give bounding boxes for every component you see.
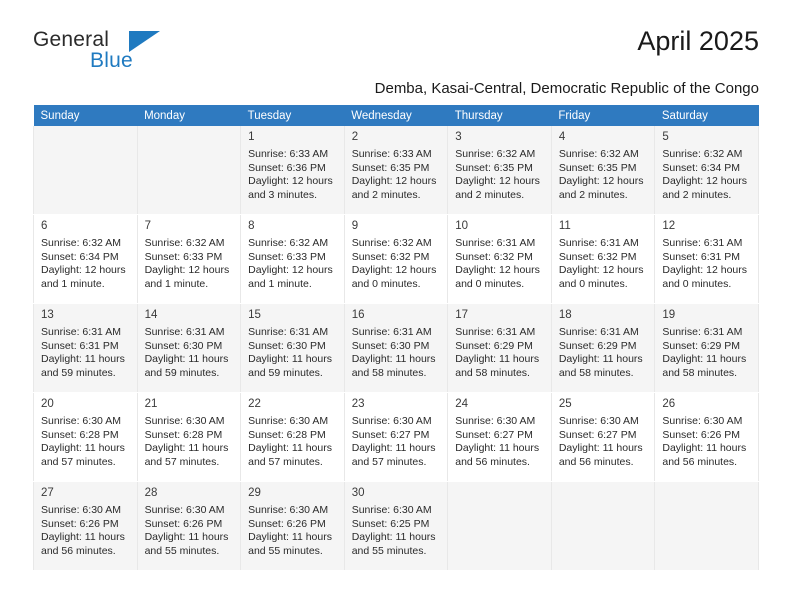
day-cell-content: 25Sunrise: 6:30 AMSunset: 6:27 PMDayligh… (552, 393, 655, 481)
daylight-text: and 2 minutes. (559, 189, 648, 203)
daylight-text: Daylight: 11 hours (662, 353, 751, 367)
sunset-text: Sunset: 6:32 PM (559, 251, 648, 265)
sunrise-text: Sunrise: 6:30 AM (248, 504, 337, 518)
calendar-week-row: 13Sunrise: 6:31 AMSunset: 6:31 PMDayligh… (34, 304, 759, 393)
daylight-text: and 59 minutes. (145, 367, 234, 381)
weekday-header-sunday: Sunday (34, 105, 138, 126)
sunrise-text: Sunrise: 6:31 AM (352, 326, 441, 340)
calendar-day-cell[interactable]: 21Sunrise: 6:30 AMSunset: 6:28 PMDayligh… (137, 393, 241, 482)
calendar-day-cell[interactable]: 19Sunrise: 6:31 AMSunset: 6:29 PMDayligh… (655, 304, 759, 393)
day-cell-content (448, 482, 551, 570)
day-cell-content: 6Sunrise: 6:32 AMSunset: 6:34 PMDaylight… (34, 215, 137, 303)
general-blue-logo[interactable]: General Blue (33, 28, 233, 76)
day-cell-content (655, 482, 758, 570)
calendar-day-cell[interactable]: 13Sunrise: 6:31 AMSunset: 6:31 PMDayligh… (34, 304, 138, 393)
day-cell-content: 23Sunrise: 6:30 AMSunset: 6:27 PMDayligh… (345, 393, 448, 481)
sunrise-text: Sunrise: 6:30 AM (352, 504, 441, 518)
day-number: 15 (248, 308, 337, 323)
day-number: 2 (352, 130, 441, 145)
daylight-text: Daylight: 12 hours (559, 264, 648, 278)
daylight-text: and 56 minutes. (662, 456, 751, 470)
sunrise-text: Sunrise: 6:30 AM (41, 504, 130, 518)
calendar-week-row: 1Sunrise: 6:33 AMSunset: 6:36 PMDaylight… (34, 126, 759, 215)
calendar-day-cell[interactable]: 26Sunrise: 6:30 AMSunset: 6:26 PMDayligh… (655, 393, 759, 482)
day-cell-content (34, 126, 137, 214)
day-cell-content: 9Sunrise: 6:32 AMSunset: 6:32 PMDaylight… (345, 215, 448, 303)
calendar-day-cell[interactable]: 29Sunrise: 6:30 AMSunset: 6:26 PMDayligh… (241, 482, 345, 571)
calendar-day-cell[interactable]: 1Sunrise: 6:33 AMSunset: 6:36 PMDaylight… (241, 126, 345, 215)
calendar-day-cell[interactable]: 16Sunrise: 6:31 AMSunset: 6:30 PMDayligh… (344, 304, 448, 393)
day-number: 20 (41, 397, 130, 412)
sunrise-text: Sunrise: 6:32 AM (248, 237, 337, 251)
sunrise-text: Sunrise: 6:32 AM (352, 237, 441, 251)
calendar-day-cell[interactable]: 10Sunrise: 6:31 AMSunset: 6:32 PMDayligh… (448, 215, 552, 304)
sunrise-text: Sunrise: 6:30 AM (145, 504, 234, 518)
daylight-text: and 55 minutes. (352, 545, 441, 559)
day-cell-content: 29Sunrise: 6:30 AMSunset: 6:26 PMDayligh… (241, 482, 344, 570)
calendar-empty-cell (655, 482, 759, 571)
day-number: 18 (559, 308, 648, 323)
day-number: 27 (41, 486, 130, 501)
day-number: 13 (41, 308, 130, 323)
sunrise-text: Sunrise: 6:31 AM (662, 326, 751, 340)
daylight-text: Daylight: 11 hours (145, 353, 234, 367)
calendar-week-row: 27Sunrise: 6:30 AMSunset: 6:26 PMDayligh… (34, 482, 759, 571)
logo-text-blue: Blue (90, 49, 133, 73)
sunset-text: Sunset: 6:29 PM (559, 340, 648, 354)
day-number: 5 (662, 130, 751, 145)
sunset-text: Sunset: 6:27 PM (352, 429, 441, 443)
day-number: 10 (455, 219, 544, 234)
location-subtitle: Demba, Kasai-Central, Democratic Republi… (33, 80, 759, 97)
sunrise-text: Sunrise: 6:32 AM (41, 237, 130, 251)
day-cell-content: 15Sunrise: 6:31 AMSunset: 6:30 PMDayligh… (241, 304, 344, 392)
day-number: 3 (455, 130, 544, 145)
sunrise-text: Sunrise: 6:32 AM (662, 148, 751, 162)
daylight-text: Daylight: 11 hours (41, 442, 130, 456)
day-cell-content: 8Sunrise: 6:32 AMSunset: 6:33 PMDaylight… (241, 215, 344, 303)
calendar-day-cell[interactable]: 6Sunrise: 6:32 AMSunset: 6:34 PMDaylight… (34, 215, 138, 304)
daylight-text: Daylight: 11 hours (248, 531, 337, 545)
daylight-text: Daylight: 11 hours (41, 353, 130, 367)
calendar-day-cell[interactable]: 28Sunrise: 6:30 AMSunset: 6:26 PMDayligh… (137, 482, 241, 571)
day-number: 28 (145, 486, 234, 501)
day-number: 26 (662, 397, 751, 412)
calendar-day-cell[interactable]: 27Sunrise: 6:30 AMSunset: 6:26 PMDayligh… (34, 482, 138, 571)
daylight-text: and 1 minute. (248, 278, 337, 292)
daylight-text: Daylight: 12 hours (145, 264, 234, 278)
day-cell-content: 19Sunrise: 6:31 AMSunset: 6:29 PMDayligh… (655, 304, 758, 392)
sunrise-text: Sunrise: 6:30 AM (145, 415, 234, 429)
sunset-text: Sunset: 6:28 PM (41, 429, 130, 443)
daylight-text: Daylight: 12 hours (41, 264, 130, 278)
day-cell-content: 28Sunrise: 6:30 AMSunset: 6:26 PMDayligh… (138, 482, 241, 570)
sunset-text: Sunset: 6:32 PM (455, 251, 544, 265)
day-cell-content: 16Sunrise: 6:31 AMSunset: 6:30 PMDayligh… (345, 304, 448, 392)
calendar-day-cell[interactable]: 5Sunrise: 6:32 AMSunset: 6:34 PMDaylight… (655, 126, 759, 215)
daylight-text: Daylight: 12 hours (455, 175, 544, 189)
daylight-text: Daylight: 12 hours (455, 264, 544, 278)
daylight-text: Daylight: 11 hours (352, 531, 441, 545)
sunrise-text: Sunrise: 6:33 AM (248, 148, 337, 162)
daylight-text: Daylight: 11 hours (455, 442, 544, 456)
sunset-text: Sunset: 6:33 PM (145, 251, 234, 265)
sunset-text: Sunset: 6:30 PM (352, 340, 441, 354)
daylight-text: and 59 minutes. (41, 367, 130, 381)
daylight-text: Daylight: 11 hours (352, 442, 441, 456)
sunrise-text: Sunrise: 6:31 AM (559, 326, 648, 340)
calendar-table: Sunday Monday Tuesday Wednesday Thursday… (33, 105, 759, 571)
sunrise-text: Sunrise: 6:31 AM (662, 237, 751, 251)
day-cell-content: 14Sunrise: 6:31 AMSunset: 6:30 PMDayligh… (138, 304, 241, 392)
daylight-text: and 1 minute. (41, 278, 130, 292)
daylight-text: Daylight: 11 hours (145, 531, 234, 545)
daylight-text: Daylight: 11 hours (662, 442, 751, 456)
sunrise-text: Sunrise: 6:30 AM (352, 415, 441, 429)
weekday-header-tuesday: Tuesday (241, 105, 345, 126)
calendar-day-cell[interactable]: 11Sunrise: 6:31 AMSunset: 6:32 PMDayligh… (551, 215, 655, 304)
calendar-empty-cell (551, 482, 655, 571)
day-cell-content: 24Sunrise: 6:30 AMSunset: 6:27 PMDayligh… (448, 393, 551, 481)
triangle-icon (129, 31, 160, 52)
day-number: 9 (352, 219, 441, 234)
daylight-text: and 58 minutes. (559, 367, 648, 381)
daylight-text: and 0 minutes. (455, 278, 544, 292)
day-number: 6 (41, 219, 130, 234)
daylight-text: Daylight: 11 hours (145, 442, 234, 456)
day-cell-content: 10Sunrise: 6:31 AMSunset: 6:32 PMDayligh… (448, 215, 551, 303)
day-number: 21 (145, 397, 234, 412)
sunset-text: Sunset: 6:35 PM (352, 162, 441, 176)
sunset-text: Sunset: 6:27 PM (455, 429, 544, 443)
day-number: 4 (559, 130, 648, 145)
day-cell-content: 1Sunrise: 6:33 AMSunset: 6:36 PMDaylight… (241, 126, 344, 214)
sunset-text: Sunset: 6:26 PM (145, 518, 234, 532)
sunrise-text: Sunrise: 6:32 AM (145, 237, 234, 251)
daylight-text: Daylight: 12 hours (662, 264, 751, 278)
page-title: April 2025 (637, 26, 759, 57)
day-number: 23 (352, 397, 441, 412)
sunrise-text: Sunrise: 6:31 AM (41, 326, 130, 340)
sunset-text: Sunset: 6:28 PM (145, 429, 234, 443)
daylight-text: and 3 minutes. (248, 189, 337, 203)
day-cell-content: 4Sunrise: 6:32 AMSunset: 6:35 PMDaylight… (552, 126, 655, 214)
sunset-text: Sunset: 6:26 PM (41, 518, 130, 532)
daylight-text: and 57 minutes. (145, 456, 234, 470)
sunset-text: Sunset: 6:33 PM (248, 251, 337, 265)
calendar-week-row: 6Sunrise: 6:32 AMSunset: 6:34 PMDaylight… (34, 215, 759, 304)
sunset-text: Sunset: 6:34 PM (662, 162, 751, 176)
sunrise-text: Sunrise: 6:33 AM (352, 148, 441, 162)
daylight-text: and 0 minutes. (559, 278, 648, 292)
calendar-day-cell[interactable]: 15Sunrise: 6:31 AMSunset: 6:30 PMDayligh… (241, 304, 345, 393)
day-number: 24 (455, 397, 544, 412)
sunrise-text: Sunrise: 6:31 AM (248, 326, 337, 340)
calendar-empty-cell (448, 482, 552, 571)
daylight-text: Daylight: 11 hours (559, 442, 648, 456)
daylight-text: and 2 minutes. (455, 189, 544, 203)
calendar-page: General Blue April 2025 Demba, Kasai-Cen… (0, 0, 792, 612)
calendar-day-cell[interactable]: 20Sunrise: 6:30 AMSunset: 6:28 PMDayligh… (34, 393, 138, 482)
sunrise-text: Sunrise: 6:30 AM (662, 415, 751, 429)
calendar-day-cell[interactable]: 22Sunrise: 6:30 AMSunset: 6:28 PMDayligh… (241, 393, 345, 482)
daylight-text: and 55 minutes. (248, 545, 337, 559)
daylight-text: and 56 minutes. (41, 545, 130, 559)
calendar-body: 1Sunrise: 6:33 AMSunset: 6:36 PMDaylight… (34, 126, 759, 571)
weekday-header-saturday: Saturday (655, 105, 759, 126)
calendar-day-cell[interactable]: 3Sunrise: 6:32 AMSunset: 6:35 PMDaylight… (448, 126, 552, 215)
calendar-empty-cell (137, 126, 241, 215)
page-header: General Blue April 2025 (33, 28, 759, 74)
day-number: 7 (145, 219, 234, 234)
daylight-text: Daylight: 12 hours (248, 175, 337, 189)
sunset-text: Sunset: 6:28 PM (248, 429, 337, 443)
day-cell-content: 27Sunrise: 6:30 AMSunset: 6:26 PMDayligh… (34, 482, 137, 570)
sunset-text: Sunset: 6:35 PM (455, 162, 544, 176)
daylight-text: and 1 minute. (145, 278, 234, 292)
weekday-header-friday: Friday (551, 105, 655, 126)
calendar-empty-cell (34, 126, 138, 215)
daylight-text: Daylight: 12 hours (352, 175, 441, 189)
day-cell-content: 18Sunrise: 6:31 AMSunset: 6:29 PMDayligh… (552, 304, 655, 392)
daylight-text: and 56 minutes. (559, 456, 648, 470)
daylight-text: and 58 minutes. (352, 367, 441, 381)
sunrise-text: Sunrise: 6:30 AM (41, 415, 130, 429)
calendar-day-cell[interactable]: 8Sunrise: 6:32 AMSunset: 6:33 PMDaylight… (241, 215, 345, 304)
daylight-text: Daylight: 11 hours (41, 531, 130, 545)
day-number: 8 (248, 219, 337, 234)
daylight-text: and 57 minutes. (41, 456, 130, 470)
day-cell-content: 22Sunrise: 6:30 AMSunset: 6:28 PMDayligh… (241, 393, 344, 481)
daylight-text: and 58 minutes. (455, 367, 544, 381)
day-cell-content: 13Sunrise: 6:31 AMSunset: 6:31 PMDayligh… (34, 304, 137, 392)
daylight-text: and 2 minutes. (662, 189, 751, 203)
sunset-text: Sunset: 6:35 PM (559, 162, 648, 176)
daylight-text: Daylight: 12 hours (662, 175, 751, 189)
calendar-day-cell[interactable]: 7Sunrise: 6:32 AMSunset: 6:33 PMDaylight… (137, 215, 241, 304)
day-number: 19 (662, 308, 751, 323)
sunrise-text: Sunrise: 6:31 AM (145, 326, 234, 340)
calendar-day-cell[interactable]: 17Sunrise: 6:31 AMSunset: 6:29 PMDayligh… (448, 304, 552, 393)
sunset-text: Sunset: 6:29 PM (455, 340, 544, 354)
daylight-text: and 57 minutes. (248, 456, 337, 470)
sunrise-text: Sunrise: 6:30 AM (455, 415, 544, 429)
daylight-text: Daylight: 11 hours (248, 442, 337, 456)
sunrise-text: Sunrise: 6:30 AM (248, 415, 337, 429)
sunset-text: Sunset: 6:30 PM (145, 340, 234, 354)
sunrise-text: Sunrise: 6:30 AM (559, 415, 648, 429)
calendar-day-cell[interactable]: 12Sunrise: 6:31 AMSunset: 6:31 PMDayligh… (655, 215, 759, 304)
calendar-day-cell[interactable]: 30Sunrise: 6:30 AMSunset: 6:25 PMDayligh… (344, 482, 448, 571)
daylight-text: and 2 minutes. (352, 189, 441, 203)
day-cell-content: 7Sunrise: 6:32 AMSunset: 6:33 PMDaylight… (138, 215, 241, 303)
sunset-text: Sunset: 6:31 PM (662, 251, 751, 265)
day-number: 29 (248, 486, 337, 501)
sunset-text: Sunset: 6:31 PM (41, 340, 130, 354)
day-cell-content: 21Sunrise: 6:30 AMSunset: 6:28 PMDayligh… (138, 393, 241, 481)
day-cell-content: 11Sunrise: 6:31 AMSunset: 6:32 PMDayligh… (552, 215, 655, 303)
daylight-text: Daylight: 12 hours (248, 264, 337, 278)
calendar-day-cell[interactable]: 24Sunrise: 6:30 AMSunset: 6:27 PMDayligh… (448, 393, 552, 482)
daylight-text: and 57 minutes. (352, 456, 441, 470)
sunset-text: Sunset: 6:32 PM (352, 251, 441, 265)
sunrise-text: Sunrise: 6:31 AM (455, 237, 544, 251)
day-number: 1 (248, 130, 337, 145)
weekday-header-monday: Monday (137, 105, 241, 126)
sunrise-text: Sunrise: 6:32 AM (455, 148, 544, 162)
day-cell-content: 17Sunrise: 6:31 AMSunset: 6:29 PMDayligh… (448, 304, 551, 392)
day-cell-content (138, 126, 241, 214)
daylight-text: Daylight: 12 hours (352, 264, 441, 278)
sunset-text: Sunset: 6:36 PM (248, 162, 337, 176)
day-cell-content: 12Sunrise: 6:31 AMSunset: 6:31 PMDayligh… (655, 215, 758, 303)
calendar-day-cell[interactable]: 18Sunrise: 6:31 AMSunset: 6:29 PMDayligh… (551, 304, 655, 393)
daylight-text: and 58 minutes. (662, 367, 751, 381)
daylight-text: Daylight: 11 hours (455, 353, 544, 367)
day-number: 25 (559, 397, 648, 412)
calendar-day-cell[interactable]: 23Sunrise: 6:30 AMSunset: 6:27 PMDayligh… (344, 393, 448, 482)
day-number: 16 (352, 308, 441, 323)
day-number: 30 (352, 486, 441, 501)
sunset-text: Sunset: 6:25 PM (352, 518, 441, 532)
day-number: 12 (662, 219, 751, 234)
day-cell-content: 2Sunrise: 6:33 AMSunset: 6:35 PMDaylight… (345, 126, 448, 214)
sunrise-text: Sunrise: 6:32 AM (559, 148, 648, 162)
sunset-text: Sunset: 6:26 PM (248, 518, 337, 532)
daylight-text: and 0 minutes. (662, 278, 751, 292)
day-number: 17 (455, 308, 544, 323)
sunset-text: Sunset: 6:27 PM (559, 429, 648, 443)
calendar-header-row: Sunday Monday Tuesday Wednesday Thursday… (34, 105, 759, 126)
sunrise-text: Sunrise: 6:31 AM (559, 237, 648, 251)
day-cell-content: 30Sunrise: 6:30 AMSunset: 6:25 PMDayligh… (345, 482, 448, 570)
weekday-header-thursday: Thursday (448, 105, 552, 126)
daylight-text: Daylight: 11 hours (248, 353, 337, 367)
calendar-day-cell[interactable]: 2Sunrise: 6:33 AMSunset: 6:35 PMDaylight… (344, 126, 448, 215)
day-cell-content: 3Sunrise: 6:32 AMSunset: 6:35 PMDaylight… (448, 126, 551, 214)
day-number: 22 (248, 397, 337, 412)
sunset-text: Sunset: 6:26 PM (662, 429, 751, 443)
daylight-text: Daylight: 11 hours (559, 353, 648, 367)
calendar-day-cell[interactable]: 4Sunrise: 6:32 AMSunset: 6:35 PMDaylight… (551, 126, 655, 215)
calendar-day-cell[interactable]: 25Sunrise: 6:30 AMSunset: 6:27 PMDayligh… (551, 393, 655, 482)
calendar-day-cell[interactable]: 9Sunrise: 6:32 AMSunset: 6:32 PMDaylight… (344, 215, 448, 304)
daylight-text: and 55 minutes. (145, 545, 234, 559)
calendar-day-cell[interactable]: 14Sunrise: 6:31 AMSunset: 6:30 PMDayligh… (137, 304, 241, 393)
day-number: 11 (559, 219, 648, 234)
daylight-text: and 56 minutes. (455, 456, 544, 470)
daylight-text: and 0 minutes. (352, 278, 441, 292)
day-cell-content (552, 482, 655, 570)
day-cell-content: 5Sunrise: 6:32 AMSunset: 6:34 PMDaylight… (655, 126, 758, 214)
daylight-text: Daylight: 12 hours (559, 175, 648, 189)
daylight-text: and 59 minutes. (248, 367, 337, 381)
sunset-text: Sunset: 6:30 PM (248, 340, 337, 354)
sunset-text: Sunset: 6:29 PM (662, 340, 751, 354)
weekday-header-wednesday: Wednesday (344, 105, 448, 126)
sunset-text: Sunset: 6:34 PM (41, 251, 130, 265)
calendar-week-row: 20Sunrise: 6:30 AMSunset: 6:28 PMDayligh… (34, 393, 759, 482)
sunrise-text: Sunrise: 6:31 AM (455, 326, 544, 340)
day-cell-content: 20Sunrise: 6:30 AMSunset: 6:28 PMDayligh… (34, 393, 137, 481)
daylight-text: Daylight: 11 hours (352, 353, 441, 367)
day-cell-content: 26Sunrise: 6:30 AMSunset: 6:26 PMDayligh… (655, 393, 758, 481)
day-number: 14 (145, 308, 234, 323)
